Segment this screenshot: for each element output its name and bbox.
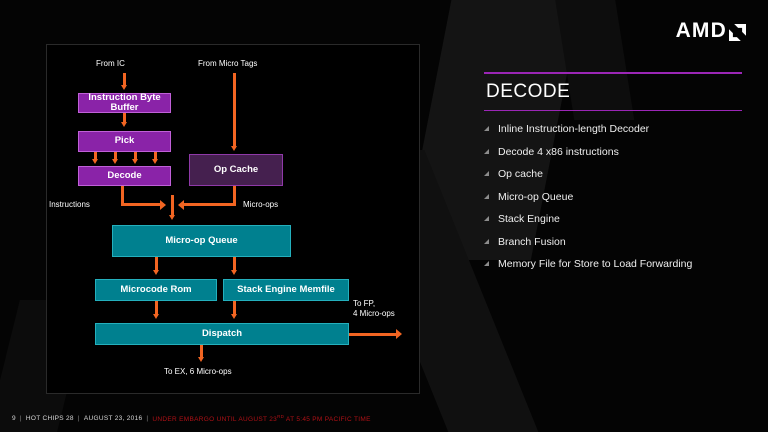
label-from-micro-tags: From Micro Tags <box>198 59 257 69</box>
list-item: Memory File for Store to Load Forwarding <box>484 258 742 270</box>
list-item-label: Memory File for Store to Load Forwarding <box>498 258 692 270</box>
arrowhead-from-ic <box>121 85 127 90</box>
triangle-bullet-icon <box>484 126 489 131</box>
presentation-date: AUGUST 23, 2016 <box>84 415 143 422</box>
label-to-fp: To FP, 4 Micro-ops <box>353 299 395 319</box>
amd-wordmark: AMD <box>676 20 727 41</box>
list-item-label: Micro-op Queue <box>498 191 573 203</box>
decode-block-diagram: From IC From Micro Tags Instruction Byte… <box>46 44 420 394</box>
label-micro-ops: Micro-ops <box>243 200 278 210</box>
connector-from-micro-tags <box>233 73 236 148</box>
block-label: Op Cache <box>214 165 258 175</box>
embargo-pre: UNDER EMBARGO UNTIL AUGUST 23 <box>152 416 277 423</box>
block-label: Pick <box>115 136 135 146</box>
block-micro-op-queue[interactable]: Micro-op Queue <box>112 225 291 257</box>
list-item: Stack Engine <box>484 213 742 225</box>
list-item-label: Stack Engine <box>498 213 560 225</box>
amd-logo: AMD <box>676 20 746 41</box>
block-op-cache[interactable]: Op Cache <box>189 154 283 186</box>
footer-separator: | <box>78 415 80 422</box>
event-name: HOT CHIPS 28 <box>26 415 74 422</box>
arrowhead-merge-queue <box>169 215 175 220</box>
triangle-bullet-icon <box>484 171 489 176</box>
arrowhead-ibb-pick <box>121 122 127 127</box>
block-stack-engine-memfile[interactable]: Stack Engine Memfile <box>223 279 349 301</box>
block-label: Decode <box>107 171 141 181</box>
list-item: Decode 4 x86 instructions <box>484 146 742 158</box>
arrowhead-pick-decode <box>132 159 138 164</box>
page-title: DECODE <box>484 74 742 110</box>
title-rule-bottom <box>484 110 742 112</box>
arrowhead-queue-microcode <box>153 270 159 275</box>
triangle-bullet-icon <box>484 261 489 266</box>
list-item-label: Branch Fusion <box>498 236 566 248</box>
list-item: Micro-op Queue <box>484 191 742 203</box>
arrowhead-dispatch-fp <box>396 329 402 339</box>
list-item: Inline Instruction-length Decoder <box>484 123 742 135</box>
label-instructions: Instructions <box>49 200 90 210</box>
block-label: Instruction Byte Buffer <box>79 93 170 114</box>
connector-merge-queue <box>171 195 174 217</box>
arrowhead-microcode-dispatch <box>153 314 159 319</box>
arrowhead-pick-decode <box>152 159 158 164</box>
list-item-label: Op cache <box>498 168 543 180</box>
list-item-label: Decode 4 x86 instructions <box>498 146 619 158</box>
triangle-bullet-icon <box>484 149 489 154</box>
feature-bullet-list: Inline Instruction-length Decoder Decode… <box>484 123 742 270</box>
block-label: Dispatch <box>202 329 242 339</box>
arrowhead-from-micro-tags <box>231 146 237 151</box>
connector-decode-merge <box>121 203 161 206</box>
arrowhead-pick-decode <box>92 159 98 164</box>
block-label: Micro-op Queue <box>165 236 237 246</box>
arrowhead-dispatch-ex <box>198 357 204 362</box>
slide-footer: 9 | HOT CHIPS 28 | AUGUST 23, 2016 | UND… <box>12 414 371 423</box>
block-microcode-rom[interactable]: Microcode Rom <box>95 279 217 301</box>
triangle-bullet-icon <box>484 239 489 244</box>
footer-separator: | <box>20 415 22 422</box>
block-label: Stack Engine Memfile <box>237 285 335 295</box>
embargo-notice: UNDER EMBARGO UNTIL AUGUST 23RD AT 5:45 … <box>152 414 370 423</box>
label-to-fp-line1: To FP, <box>353 299 375 308</box>
amd-arrow-icon <box>729 24 746 41</box>
connector-dispatch-fp <box>349 333 397 336</box>
list-item: Op cache <box>484 168 742 180</box>
label-to-ex: To EX, 6 Micro-ops <box>164 367 232 377</box>
triangle-bullet-icon <box>484 216 489 221</box>
label-from-ic: From IC <box>96 59 125 69</box>
decode-panel: DECODE Inline Instruction-length Decoder… <box>484 72 742 281</box>
label-to-fp-line2: 4 Micro-ops <box>353 309 395 318</box>
block-label: Microcode Rom <box>120 285 191 295</box>
arrowhead-microops-merge <box>178 200 184 210</box>
embargo-post: AT 5:45 PM PACIFIC TIME <box>284 416 371 423</box>
page-number: 9 <box>12 415 16 422</box>
list-item: Branch Fusion <box>484 236 742 248</box>
block-dispatch[interactable]: Dispatch <box>95 323 349 345</box>
arrowhead-pick-decode <box>112 159 118 164</box>
arrowhead-queue-stackengine <box>231 270 237 275</box>
block-pick[interactable]: Pick <box>78 131 171 152</box>
block-instruction-byte-buffer[interactable]: Instruction Byte Buffer <box>78 93 171 113</box>
arrowhead-instructions-merge <box>160 200 166 210</box>
slide-canvas: AMD From IC From Micro Tags Instruction … <box>0 0 768 432</box>
block-decode[interactable]: Decode <box>78 166 171 186</box>
triangle-bullet-icon <box>484 194 489 199</box>
list-item-label: Inline Instruction-length Decoder <box>498 123 649 135</box>
footer-separator: | <box>146 415 148 422</box>
arrowhead-stackengine-dispatch <box>231 314 237 319</box>
connector-opcache-merge <box>184 203 236 206</box>
